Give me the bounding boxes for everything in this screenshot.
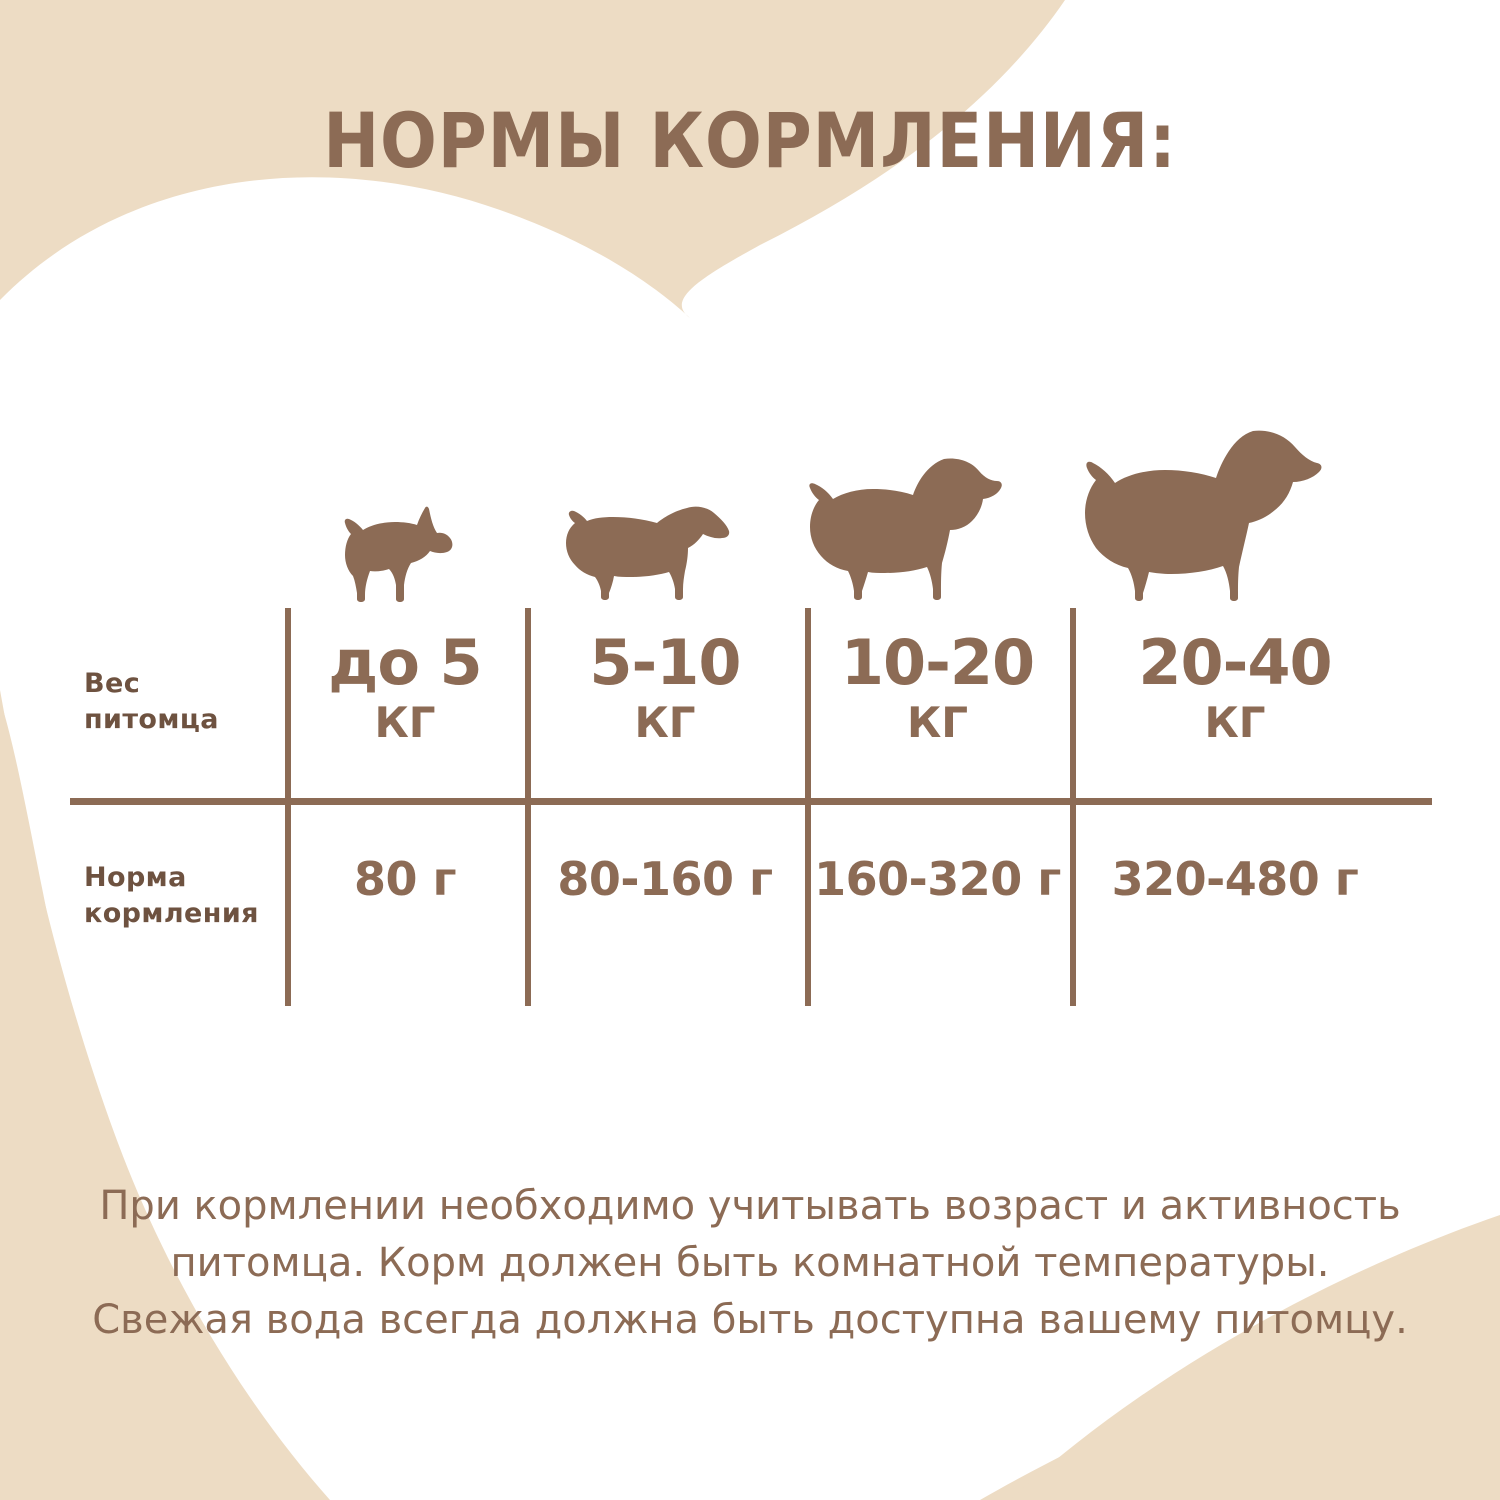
amount-cell-2: 80-160 г [525, 856, 805, 902]
dog-silhouette-large [1085, 425, 1325, 603]
footer-note-line2: питомца. Корм должен быть комнатной темп… [60, 1235, 1440, 1292]
footer-note-line1: При кормлении необходимо учитывать возра… [60, 1178, 1440, 1235]
weight-cell-1: до 5 КГ [285, 630, 525, 747]
feeding-guidelines-infographic: НОРМЫ КОРМЛЕНИЯ: [0, 0, 1500, 1500]
dog-silhouette-medium [805, 451, 1005, 603]
dog-silhouette-mediumsmall [561, 493, 731, 603]
table-divider-horizontal [70, 798, 1432, 805]
amount-cell-1: 80 г [285, 856, 525, 902]
row-label-weight: Вес питомца [84, 666, 284, 737]
page-title: НОРМЫ КОРМЛЕНИЯ: [90, 96, 1410, 185]
weight-range-3: 10-20 [805, 630, 1070, 697]
row-label-norm-line2: кормления [84, 896, 284, 932]
weight-unit-2: КГ [525, 699, 805, 747]
row-label-weight-line1: Вес [84, 666, 284, 702]
row-label-norm: Норма кормления [84, 860, 284, 931]
footer-note: При кормлении необходимо учитывать возра… [60, 1178, 1440, 1348]
weight-unit-3: КГ [805, 699, 1070, 747]
dog-silhouette-row [285, 415, 1435, 605]
feeding-table: Вес питомца Норма кормления до 5 КГ 5-10… [70, 608, 1432, 1006]
weight-unit-1: КГ [285, 699, 525, 747]
row-label-weight-line2: питомца [84, 702, 284, 738]
weight-cell-4: 20-40 КГ [1070, 630, 1400, 747]
weight-range-4: 20-40 [1070, 630, 1400, 697]
weight-range-2: 5-10 [525, 630, 805, 697]
amount-cell-4: 320-480 г [1070, 856, 1400, 902]
weight-unit-4: КГ [1070, 699, 1400, 747]
amount-cell-3: 160-320 г [805, 856, 1070, 902]
footer-note-line3: Свежая вода всегда должна быть доступна … [60, 1292, 1440, 1349]
row-label-norm-line1: Норма [84, 860, 284, 896]
weight-cell-2: 5-10 КГ [525, 630, 805, 747]
weight-cell-3: 10-20 КГ [805, 630, 1070, 747]
weight-range-1: до 5 [285, 630, 525, 697]
dog-silhouette-small [343, 505, 463, 603]
